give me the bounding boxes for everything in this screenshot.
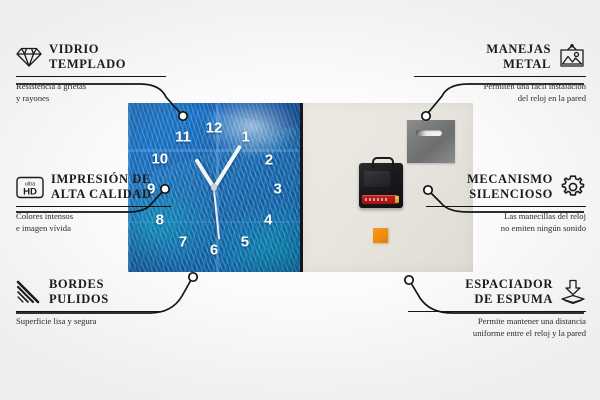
feature-title-2: IMPRESIÓN DE ALTA CALIDAD bbox=[51, 172, 152, 203]
feature-desc-1b: y rayones bbox=[16, 93, 166, 105]
foam-spacer-part bbox=[373, 228, 388, 243]
feature-desc-1a: Resistencia a grietas bbox=[16, 81, 166, 93]
feature-bordes-pulidos[interactable]: BORDES PULIDOS Superficie lisa y segura bbox=[16, 277, 164, 328]
feature-desc-4a: Permiten una fácil instalación bbox=[414, 81, 586, 93]
mechanism-hook bbox=[372, 157, 394, 168]
hanging-frame-icon bbox=[558, 44, 586, 70]
clock-numeral-3: 3 bbox=[273, 182, 281, 197]
clock-numeral-10: 10 bbox=[151, 151, 168, 166]
battery-tip bbox=[395, 196, 399, 203]
clock-numeral-5: 5 bbox=[241, 234, 249, 249]
feature-title-6: ESPACIADOR DE ESPUMA bbox=[465, 277, 553, 308]
clock-numeral-12: 12 bbox=[206, 121, 223, 136]
feature-rule-4 bbox=[414, 76, 586, 78]
polished-edges-icon bbox=[16, 280, 42, 304]
foam-spacer-icon bbox=[560, 279, 586, 305]
feature-header-5: MECANISMO SILENCIOSO bbox=[426, 172, 586, 203]
svg-text:HD: HD bbox=[23, 186, 37, 197]
clock-numeral-7: 7 bbox=[179, 234, 187, 249]
battery-label bbox=[365, 198, 389, 201]
feature-desc-4b: del reloj en la pared bbox=[414, 93, 586, 105]
diamond-icon bbox=[16, 46, 42, 68]
feature-impresion-alta-calidad[interactable]: ultra HD IMPRESIÓN DE ALTA CALIDAD Color… bbox=[16, 172, 171, 234]
feature-desc-6b: uniforme entre el reloj y la pared bbox=[408, 328, 586, 340]
hanger-slot bbox=[416, 130, 442, 136]
feature-vidrio-templado[interactable]: VIDRIO TEMPLADO Resistencia a grietas y … bbox=[16, 42, 166, 104]
battery-part bbox=[362, 195, 398, 204]
feature-header-6: ESPACIADOR DE ESPUMA bbox=[408, 277, 586, 308]
feature-header-3: BORDES PULIDOS bbox=[16, 277, 164, 308]
feature-header-2: ultra HD IMPRESIÓN DE ALTA CALIDAD bbox=[16, 172, 171, 203]
clock-numeral-6: 6 bbox=[210, 243, 218, 258]
ultra-hd-icon: ultra HD bbox=[16, 176, 44, 199]
feature-rule-6 bbox=[408, 311, 586, 313]
feature-desc-2a: Colores intensos bbox=[16, 211, 171, 223]
feature-desc-5b: no emiten ningún sonido bbox=[426, 223, 586, 235]
metal-hanger-part bbox=[407, 120, 455, 163]
feature-title-4: MANEJAS METAL bbox=[486, 42, 551, 73]
clock-numeral-4: 4 bbox=[264, 212, 272, 227]
feature-desc-5a: Las manecillas del reloj bbox=[426, 211, 586, 223]
product-image-group: 12 1 2 3 4 5 6 7 8 9 10 11 bbox=[128, 103, 473, 273]
feature-rule-2 bbox=[16, 206, 171, 208]
clock-numeral-1: 1 bbox=[242, 129, 250, 144]
clock-numeral-11: 11 bbox=[175, 129, 191, 144]
gear-icon bbox=[560, 174, 586, 200]
feature-rule-3 bbox=[16, 311, 164, 313]
clock-mechanism-part bbox=[359, 163, 403, 208]
clock-numeral-2: 2 bbox=[265, 152, 273, 167]
feature-desc-3a: Superficie lisa y segura bbox=[16, 316, 164, 328]
feature-title-3: BORDES PULIDOS bbox=[49, 277, 109, 308]
feature-header-1: VIDRIO TEMPLADO bbox=[16, 42, 166, 73]
feature-title-5: MECANISMO SILENCIOSO bbox=[467, 172, 553, 203]
feature-manejas-metal[interactable]: MANEJAS METAL Permiten una fácil instala… bbox=[414, 42, 586, 104]
feature-desc-6a: Permite mantener una distancia bbox=[408, 316, 586, 328]
mechanism-plate bbox=[364, 171, 390, 187]
clock-center-cap bbox=[211, 185, 217, 191]
infographic-canvas: 12 1 2 3 4 5 6 7 8 9 10 11 bbox=[0, 0, 600, 400]
feature-header-4: MANEJAS METAL bbox=[414, 42, 586, 73]
feature-desc-2b: e imagen vívida bbox=[16, 223, 171, 235]
feature-title-1: VIDRIO TEMPLADO bbox=[49, 42, 126, 73]
feature-rule-5 bbox=[426, 206, 586, 208]
feature-rule-1 bbox=[16, 76, 166, 78]
feature-espaciador-espuma[interactable]: ESPACIADOR DE ESPUMA Permite mantener un… bbox=[408, 277, 586, 339]
feature-mecanismo-silencioso[interactable]: MECANISMO SILENCIOSO Las manecillas del … bbox=[426, 172, 586, 234]
